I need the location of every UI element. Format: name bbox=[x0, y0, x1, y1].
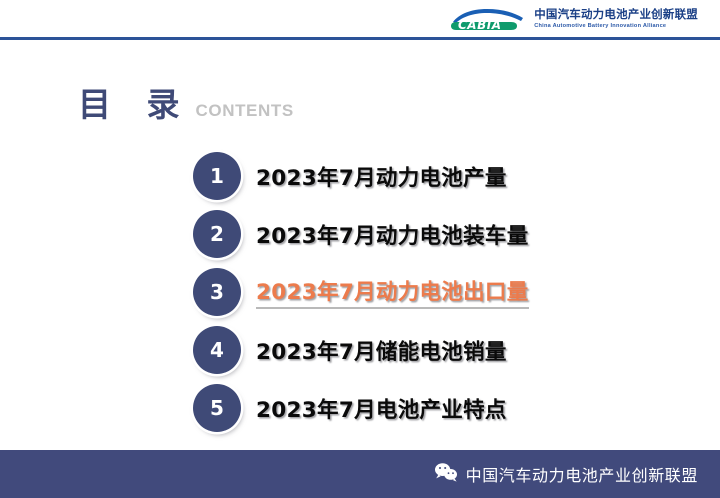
item-number-badge: 4 bbox=[193, 326, 241, 374]
list-item-label[interactable]: 2023年7月电池产业特点 bbox=[256, 393, 507, 424]
list-item-label[interactable]: 2023年7月储能电池销量 bbox=[256, 335, 507, 366]
list-item[interactable]: 1 2023年7月动力电池产量 bbox=[193, 147, 613, 205]
svg-text:CABIA: CABIA bbox=[458, 18, 502, 32]
contents-list: 1 2023年7月动力电池产量 2 2023年7月动力电池装车量 3 2023年… bbox=[193, 147, 613, 437]
list-item-label[interactable]: 2023年7月动力电池产量 bbox=[256, 161, 507, 192]
item-number-badge: 5 bbox=[193, 384, 241, 432]
header-divider bbox=[0, 37, 720, 40]
wechat-icon bbox=[434, 462, 458, 487]
footer-text: 中国汽车动力电池产业创新联盟 bbox=[466, 462, 698, 486]
item-number-badge: 1 bbox=[193, 152, 241, 200]
page-title: 目 录 CONTENTS bbox=[78, 78, 294, 126]
logo-title-cn: 中国汽车动力电池产业创新联盟 bbox=[534, 10, 698, 22]
item-number-badge: 2 bbox=[193, 210, 241, 258]
item-number-badge: 3 bbox=[193, 268, 241, 316]
page-title-cn: 目 录 bbox=[78, 78, 192, 126]
cabia-logo-icon: CABIA bbox=[449, 7, 527, 33]
list-item[interactable]: 3 2023年7月动力电池出口量 bbox=[193, 263, 613, 321]
page-header: CABIA 中国汽车动力电池产业创新联盟 China Automotive Ba… bbox=[0, 0, 720, 38]
logo-text-block: 中国汽车动力电池产业创新联盟 China Automotive Battery … bbox=[534, 10, 698, 30]
logo-title-en: China Automotive Battery Innovation Alli… bbox=[534, 24, 698, 30]
list-item[interactable]: 2 2023年7月动力电池装车量 bbox=[193, 205, 613, 263]
list-item-label-active[interactable]: 2023年7月动力电池出口量 bbox=[256, 275, 529, 309]
alliance-logo: CABIA 中国汽车动力电池产业创新联盟 China Automotive Ba… bbox=[449, 7, 698, 33]
footer-brand: 中国汽车动力电池产业创新联盟 bbox=[434, 462, 698, 487]
page-title-en: CONTENTS bbox=[196, 101, 294, 121]
page-footer: 中国汽车动力电池产业创新联盟 bbox=[0, 450, 720, 498]
list-item[interactable]: 5 2023年7月电池产业特点 bbox=[193, 379, 613, 437]
list-item[interactable]: 4 2023年7月储能电池销量 bbox=[193, 321, 613, 379]
list-item-label[interactable]: 2023年7月动力电池装车量 bbox=[256, 219, 529, 250]
